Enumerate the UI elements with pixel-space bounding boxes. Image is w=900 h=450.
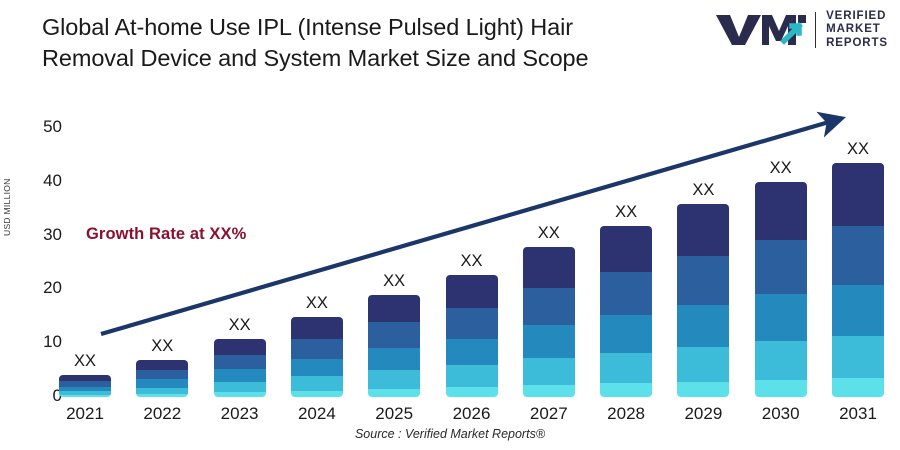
source-note: Source : Verified Market Reports® [0,427,900,441]
chart-screenshot: Global At-home Use IPL (Intense Pulsed L… [0,0,900,450]
chart-plot-area: USD MILLION 01020304050 XXXXXXXXXXXXXXXX… [0,0,900,450]
growth-rate-annotation: Growth Rate at XX% [86,225,246,244]
